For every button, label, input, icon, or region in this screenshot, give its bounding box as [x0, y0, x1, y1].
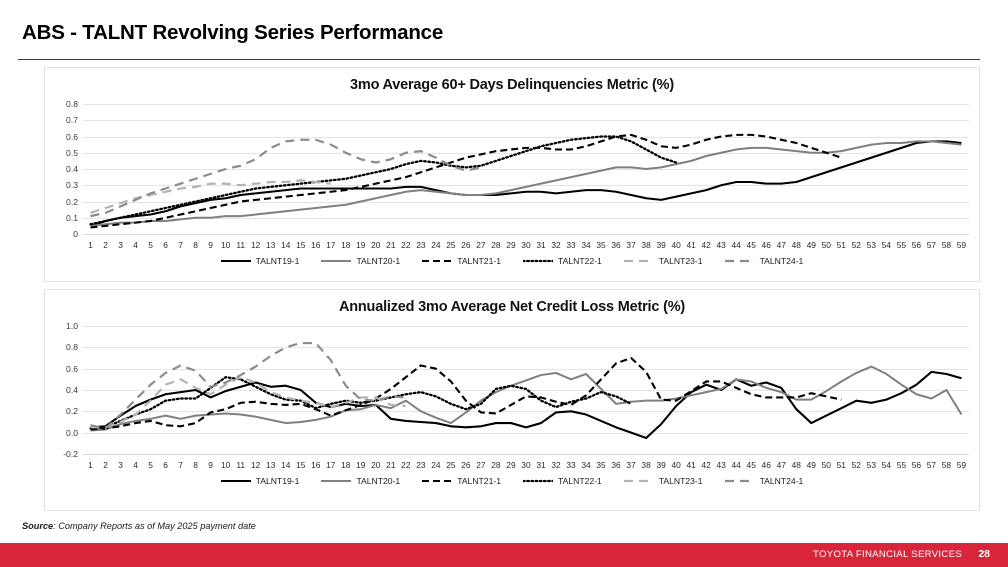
footer-page-number: 28 [978, 548, 990, 560]
x-axis-tick-label: 25 [443, 238, 458, 252]
source-label: Source [22, 521, 53, 531]
x-axis-tick-label: 14 [278, 238, 293, 252]
x-axis-tick-label: 57 [924, 458, 939, 472]
x-axis-tick-label: 17 [323, 458, 338, 472]
x-axis-tick-label: 26 [458, 238, 473, 252]
legend-label: TALNT22-1 [558, 256, 602, 266]
x-axis-tick-label: 42 [699, 458, 714, 472]
title-divider [18, 59, 980, 60]
x-axis-tick-label: 13 [263, 458, 278, 472]
x-axis-tick-label: 56 [909, 238, 924, 252]
x-axis-tick-label: 51 [834, 238, 849, 252]
x-axis-tick-label: 36 [609, 458, 624, 472]
x-axis-tick-label: 45 [744, 238, 759, 252]
legend-label: TALNT19-1 [256, 476, 300, 486]
series-line-talnt22-1 [91, 377, 632, 428]
x-axis-tick-label: 23 [413, 458, 428, 472]
legend-label: TALNT21-1 [457, 476, 501, 486]
y-axis-tick-label: 0.6 [44, 132, 78, 142]
x-axis-tick-label: 19 [353, 238, 368, 252]
x-axis-tick-label: 50 [819, 238, 834, 252]
x-axis-tick-label: 49 [804, 238, 819, 252]
legend-swatch-longdash-gray [725, 476, 755, 486]
source-text: : Company Reports as of May 2025 payment… [53, 521, 256, 531]
x-axis-tick-label: 55 [894, 458, 909, 472]
x-axis-tick-label: 13 [263, 238, 278, 252]
x-axis-tick-label: 32 [548, 458, 563, 472]
plot-area-net-credit-loss: -0.20.00.20.40.60.81.0 [83, 326, 969, 454]
x-axis-tick-label: 1 [83, 238, 98, 252]
legend-item-talnt21-1[interactable]: TALNT21-1 [422, 256, 501, 266]
x-axis-tick-label: 32 [548, 238, 563, 252]
x-axis-tick-label: 52 [849, 238, 864, 252]
legend-swatch-dash-black [422, 256, 452, 266]
x-axis-tick-label: 29 [503, 238, 518, 252]
x-axis-tick-label: 43 [714, 238, 729, 252]
x-axis-tick-label: 48 [789, 458, 804, 472]
x-axis-tick-label: 15 [293, 458, 308, 472]
y-axis-tick-label: 0.4 [44, 385, 78, 395]
x-axis-tick-label: 4 [128, 458, 143, 472]
x-axis-tick-label: 45 [744, 458, 759, 472]
x-axis-tick-label: 59 [954, 238, 969, 252]
chart-title-net-credit-loss: Annualized 3mo Average Net Credit Loss M… [45, 299, 979, 315]
legend-delinquency: TALNT19-1TALNT20-1TALNT21-1TALNT22-1TALN… [45, 256, 979, 266]
x-axis-tick-label: 41 [684, 458, 699, 472]
series-line-talnt20-1 [91, 141, 962, 226]
legend-label: TALNT21-1 [457, 256, 501, 266]
x-axis-tick-label: 3 [113, 238, 128, 252]
x-axis-tick-label: 9 [203, 458, 218, 472]
y-axis-tick-label: 0.5 [44, 148, 78, 158]
x-axis-tick-label: 2 [98, 458, 113, 472]
x-axis-tick-label: 5 [143, 458, 158, 472]
x-axis-tick-label: 16 [308, 238, 323, 252]
chart-title-delinquency: 3mo Average 60+ Days Delinquencies Metri… [45, 77, 979, 93]
x-axis-tick-label: 17 [323, 238, 338, 252]
x-axis-tick-label: 39 [654, 238, 669, 252]
y-axis-tick-label: 0.2 [44, 197, 78, 207]
x-axis-tick-label: 27 [473, 458, 488, 472]
legend-label: TALNT23-1 [659, 476, 703, 486]
x-axis-tick-label: 16 [308, 458, 323, 472]
x-axis-tick-label: 25 [443, 458, 458, 472]
y-axis-tick-label: -0.2 [44, 449, 78, 459]
x-axis-tick-label: 37 [624, 238, 639, 252]
x-axis-tick-label: 53 [864, 458, 879, 472]
x-axis-tick-label: 4 [128, 238, 143, 252]
x-axis-tick-label: 12 [248, 238, 263, 252]
legend-item-talnt23-1[interactable]: TALNT23-1 [624, 256, 703, 266]
footer-brand: TOYOTA FINANCIAL SERVICES [813, 549, 962, 560]
series-line-talnt19-1 [91, 372, 962, 438]
legend-label: TALNT22-1 [558, 476, 602, 486]
x-axis-tick-label: 26 [458, 458, 473, 472]
x-axis-tick-label: 28 [488, 238, 503, 252]
x-axis-delinquency: 1234567891011121314151617181920212223242… [83, 238, 969, 252]
source-note: Source: Company Reports as of May 2025 p… [22, 521, 256, 531]
x-axis-tick-label: 22 [398, 458, 413, 472]
series-lines [83, 326, 969, 454]
legend-item-talnt20-1[interactable]: TALNT20-1 [321, 476, 400, 486]
page-title: ABS - TALNT Revolving Series Performance [22, 21, 443, 45]
series-line-talnt24-1 [91, 140, 481, 216]
y-axis-tick-label: 0.1 [44, 213, 78, 223]
x-axis-tick-label: 47 [774, 238, 789, 252]
legend-label: TALNT24-1 [760, 256, 804, 266]
x-axis-tick-label: 43 [714, 458, 729, 472]
x-axis-tick-label: 53 [864, 238, 879, 252]
y-axis-tick-label: 0.0 [44, 428, 78, 438]
x-axis-tick-label: 58 [939, 238, 954, 252]
legend-item-talnt24-1[interactable]: TALNT24-1 [725, 256, 804, 266]
x-axis-tick-label: 35 [594, 238, 609, 252]
x-axis-tick-label: 10 [218, 458, 233, 472]
x-axis-tick-label: 14 [278, 458, 293, 472]
x-axis-tick-label: 10 [218, 238, 233, 252]
x-axis-tick-label: 44 [729, 238, 744, 252]
x-axis-tick-label: 30 [518, 458, 533, 472]
legend-item-talnt19-1[interactable]: TALNT19-1 [221, 476, 300, 486]
x-axis-tick-label: 3 [113, 458, 128, 472]
y-axis-tick-label: 1.0 [44, 321, 78, 331]
x-axis-tick-label: 48 [789, 238, 804, 252]
x-axis-tick-label: 31 [533, 458, 548, 472]
x-axis-tick-label: 2 [98, 238, 113, 252]
chart-panel-delinquency: 3mo Average 60+ Days Delinquencies Metri… [44, 67, 980, 282]
x-axis-tick-label: 5 [143, 238, 158, 252]
series-line-talnt20-1 [91, 367, 962, 431]
x-axis-tick-label: 34 [579, 458, 594, 472]
x-axis-tick-label: 59 [954, 458, 969, 472]
x-axis-tick-label: 52 [849, 458, 864, 472]
series-line-talnt22-1 [91, 137, 677, 225]
x-axis-tick-label: 18 [338, 458, 353, 472]
x-axis-tick-label: 34 [579, 238, 594, 252]
x-axis-tick-label: 47 [774, 458, 789, 472]
legend-swatch-solid-black [221, 476, 251, 486]
y-axis-tick-label: 0 [44, 229, 78, 239]
legend-swatch-solid-gray [321, 476, 351, 486]
y-axis-tick-label: 0.8 [44, 99, 78, 109]
x-axis-tick-label: 46 [759, 238, 774, 252]
gridline [83, 454, 969, 455]
x-axis-tick-label: 11 [233, 458, 248, 472]
legend-label: TALNT20-1 [356, 476, 400, 486]
x-axis-tick-label: 7 [173, 238, 188, 252]
legend-label: TALNT23-1 [659, 256, 703, 266]
x-axis-tick-label: 44 [729, 458, 744, 472]
x-axis-tick-label: 54 [879, 238, 894, 252]
legend-label: TALNT20-1 [356, 256, 400, 266]
x-axis-tick-label: 27 [473, 238, 488, 252]
x-axis-tick-label: 7 [173, 458, 188, 472]
x-axis-tick-label: 35 [594, 458, 609, 472]
legend-swatch-dot-black [523, 256, 553, 266]
legend-swatch-solid-gray [321, 256, 351, 266]
x-axis-tick-label: 12 [248, 458, 263, 472]
x-axis-tick-label: 1 [83, 458, 98, 472]
legend-swatch-longdash-gray [725, 256, 755, 266]
x-axis-tick-label: 6 [158, 238, 173, 252]
x-axis-tick-label: 6 [158, 458, 173, 472]
x-axis-tick-label: 46 [759, 458, 774, 472]
x-axis-tick-label: 20 [368, 458, 383, 472]
x-axis-tick-label: 58 [939, 458, 954, 472]
x-axis-tick-label: 22 [398, 238, 413, 252]
x-axis-tick-label: 24 [428, 458, 443, 472]
chart-panel-net-credit-loss: Annualized 3mo Average Net Credit Loss M… [44, 289, 980, 511]
y-axis-tick-label: 0.8 [44, 342, 78, 352]
x-axis-tick-label: 38 [639, 458, 654, 472]
legend-label: TALNT19-1 [256, 256, 300, 266]
y-axis-tick-label: 0.2 [44, 406, 78, 416]
series-line-talnt19-1 [91, 141, 962, 226]
x-axis-tick-label: 40 [669, 458, 684, 472]
x-axis-tick-label: 36 [609, 238, 624, 252]
legend-swatch-longdash-lightgray [624, 256, 654, 266]
legend-item-talnt23-1[interactable]: TALNT23-1 [624, 476, 703, 486]
x-axis-tick-label: 51 [834, 458, 849, 472]
x-axis-tick-label: 15 [293, 238, 308, 252]
legend-item-talnt21-1[interactable]: TALNT21-1 [422, 476, 501, 486]
legend-net-credit-loss: TALNT19-1TALNT20-1TALNT21-1TALNT22-1TALN… [45, 476, 979, 486]
x-axis-tick-label: 42 [699, 238, 714, 252]
x-axis-tick-label: 24 [428, 238, 443, 252]
x-axis-tick-label: 8 [188, 238, 203, 252]
x-axis-tick-label: 55 [894, 238, 909, 252]
x-axis-tick-label: 21 [383, 458, 398, 472]
legend-item-talnt24-1[interactable]: TALNT24-1 [725, 476, 804, 486]
legend-swatch-solid-black [221, 256, 251, 266]
x-axis-net-credit-loss: 1234567891011121314151617181920212223242… [83, 458, 969, 472]
x-axis-tick-label: 19 [353, 458, 368, 472]
y-axis-tick-label: 0.7 [44, 115, 78, 125]
x-axis-tick-label: 37 [624, 458, 639, 472]
y-axis-tick-label: 0.6 [44, 364, 78, 374]
y-axis-tick-label: 0.4 [44, 164, 78, 174]
legend-item-talnt19-1[interactable]: TALNT19-1 [221, 256, 300, 266]
x-axis-tick-label: 41 [684, 238, 699, 252]
x-axis-tick-label: 21 [383, 238, 398, 252]
legend-label: TALNT24-1 [760, 476, 804, 486]
x-axis-tick-label: 31 [533, 238, 548, 252]
x-axis-tick-label: 18 [338, 238, 353, 252]
legend-item-talnt22-1[interactable]: TALNT22-1 [523, 476, 602, 486]
x-axis-tick-label: 40 [669, 238, 684, 252]
x-axis-tick-label: 49 [804, 458, 819, 472]
x-axis-tick-label: 56 [909, 458, 924, 472]
series-line-talnt21-1 [91, 135, 842, 228]
legend-swatch-dash-black [422, 476, 452, 486]
x-axis-tick-label: 23 [413, 238, 428, 252]
x-axis-tick-label: 11 [233, 238, 248, 252]
x-axis-tick-label: 30 [518, 238, 533, 252]
x-axis-tick-label: 54 [879, 458, 894, 472]
y-axis-tick-label: 0.3 [44, 180, 78, 190]
series-lines [83, 104, 969, 234]
x-axis-tick-label: 28 [488, 458, 503, 472]
x-axis-tick-label: 20 [368, 238, 383, 252]
x-axis-tick-label: 33 [564, 458, 579, 472]
slide-canvas: ABS - TALNT Revolving Series Performance… [0, 0, 1008, 567]
x-axis-tick-label: 38 [639, 238, 654, 252]
x-axis-tick-label: 29 [503, 458, 518, 472]
gridline [83, 234, 969, 235]
plot-area-delinquency: 00.10.20.30.40.50.60.70.8 [83, 104, 969, 234]
x-axis-tick-label: 9 [203, 238, 218, 252]
legend-item-talnt20-1[interactable]: TALNT20-1 [321, 256, 400, 266]
x-axis-tick-label: 57 [924, 238, 939, 252]
x-axis-tick-label: 33 [564, 238, 579, 252]
x-axis-tick-label: 50 [819, 458, 834, 472]
legend-swatch-longdash-lightgray [624, 476, 654, 486]
legend-item-talnt22-1[interactable]: TALNT22-1 [523, 256, 602, 266]
legend-swatch-dot-black [523, 476, 553, 486]
x-axis-tick-label: 39 [654, 458, 669, 472]
x-axis-tick-label: 8 [188, 458, 203, 472]
